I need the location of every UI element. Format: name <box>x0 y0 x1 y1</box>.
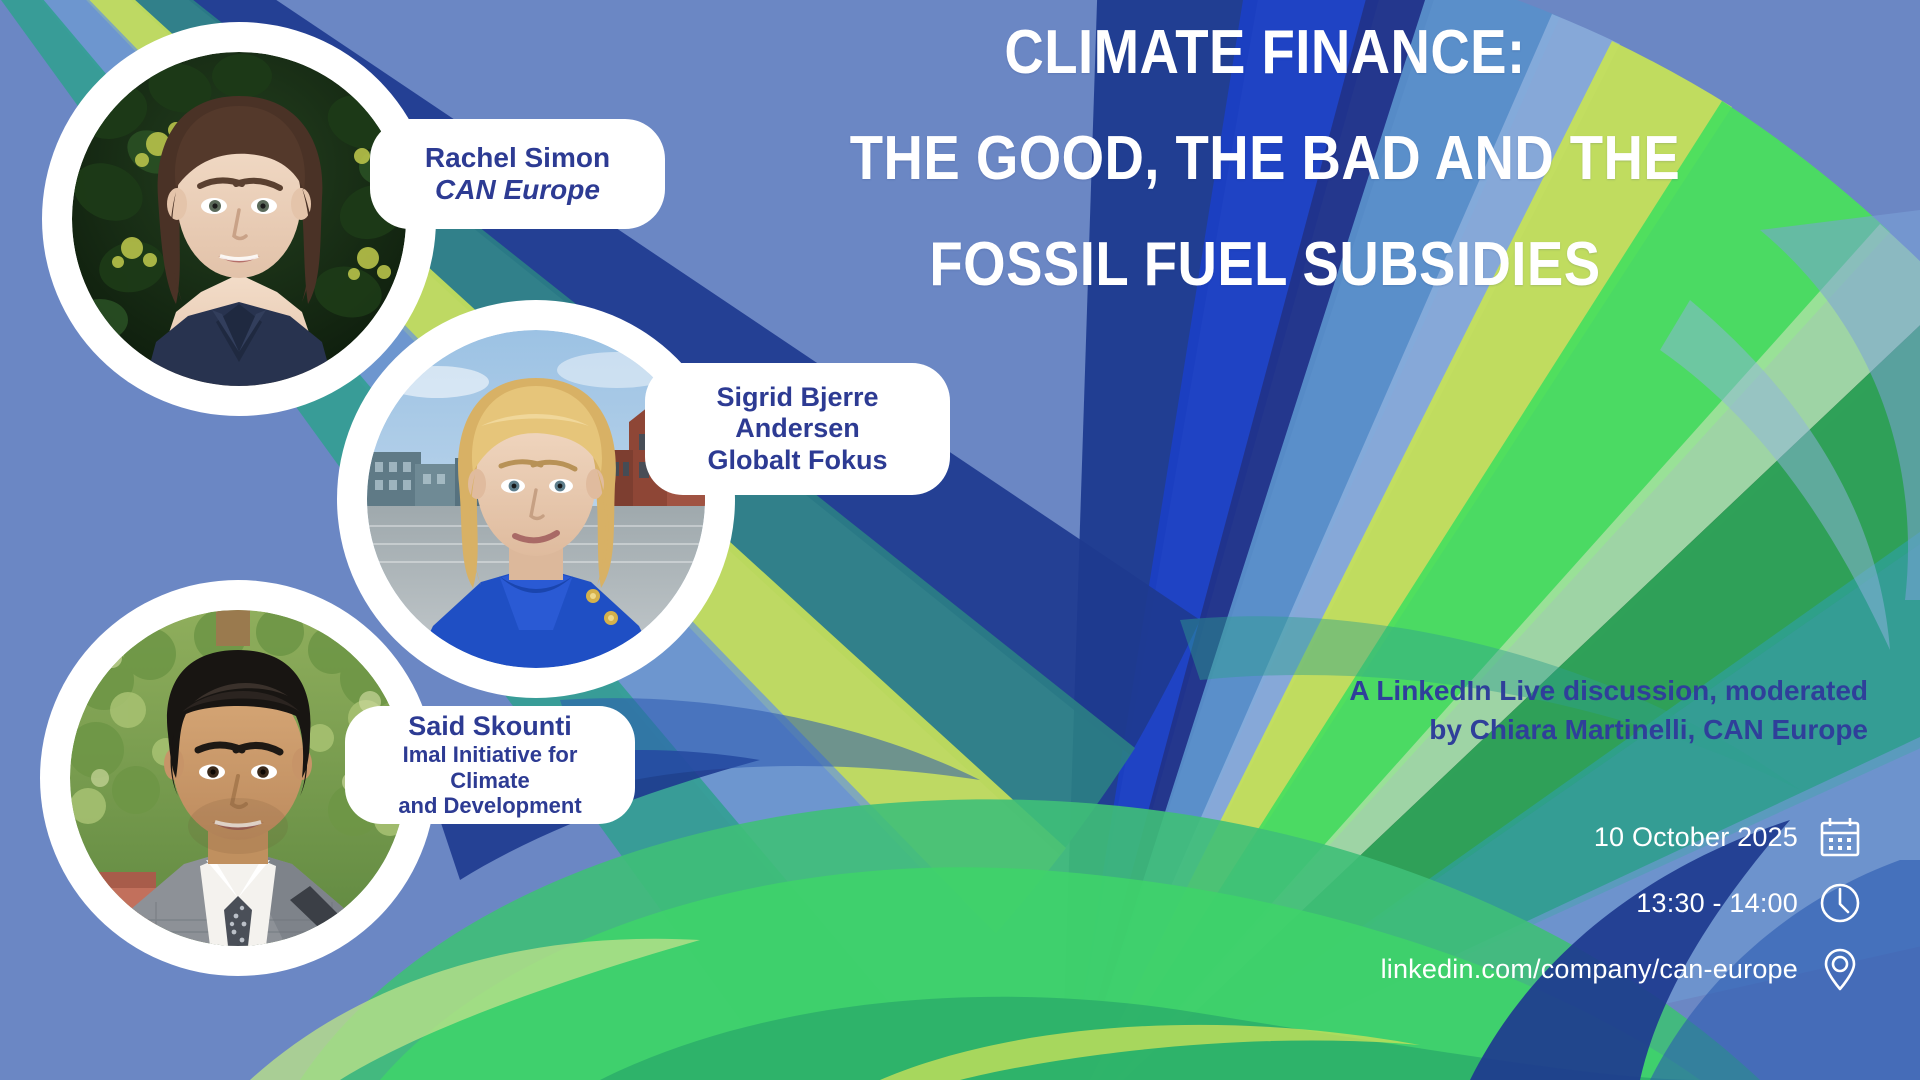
event-subtitle: A LinkedIn Live discussion, moderated by… <box>900 672 1900 749</box>
event-poster: Rachel Simon CAN Europe Sigrid Bjerre An… <box>0 0 1920 1080</box>
event-date: 10 October 2025 <box>1594 822 1798 853</box>
title-line-1: CLIMATE FINANCE: <box>706 22 1824 84</box>
speaker-photo-1 <box>42 22 436 416</box>
event-date-row: 10 October 2025 <box>1594 815 1862 859</box>
speaker-name-bubble-2: Sigrid Bjerre Andersen Globalt Fokus <box>645 363 950 495</box>
speaker-name-bubble-3: Said Skounti Imal Initiative for Climate… <box>345 706 635 824</box>
clock-icon <box>1818 881 1862 925</box>
event-details: 10 October 2025 13:30 - 14:00 <box>1381 815 1862 991</box>
subtitle-line-2: by Chiara Martinelli, CAN Europe <box>900 711 1868 750</box>
speaker-photo-2 <box>337 300 735 698</box>
event-location: linkedin.com/company/can-europe <box>1381 954 1798 985</box>
event-time: 13:30 - 14:00 <box>1636 888 1798 919</box>
portrait-rachel-simon <box>72 52 406 386</box>
title-line-2: THE GOOD, THE BAD AND THE <box>706 128 1824 190</box>
event-title: CLIMATE FINANCE: THE GOOD, THE BAD AND T… <box>630 22 1900 296</box>
speaker-organisation: Globalt Fokus <box>679 445 916 476</box>
event-location-row: linkedin.com/company/can-europe <box>1381 947 1862 991</box>
speaker-name-line-1: Sigrid Bjerre <box>679 382 916 413</box>
avatar <box>72 52 406 386</box>
speaker-organisation: CAN Europe <box>404 174 631 206</box>
title-line-3: FOSSIL FUEL SUBSIDIES <box>706 234 1824 296</box>
subtitle-line-1: A LinkedIn Live discussion, moderated <box>900 672 1868 711</box>
speaker-name-bubble-1: Rachel Simon CAN Europe <box>370 119 665 229</box>
speaker-name-line-2: Andersen <box>679 413 916 444</box>
map-pin-icon <box>1818 947 1862 991</box>
event-time-row: 13:30 - 14:00 <box>1636 881 1862 925</box>
speaker-organisation-line-2: and Development <box>379 793 601 819</box>
speaker-name: Rachel Simon <box>404 142 631 174</box>
speaker-organisation-line-1: Imal Initiative for Climate <box>379 742 601 793</box>
speaker-name: Said Skounti <box>379 711 601 742</box>
calendar-icon <box>1818 815 1862 859</box>
